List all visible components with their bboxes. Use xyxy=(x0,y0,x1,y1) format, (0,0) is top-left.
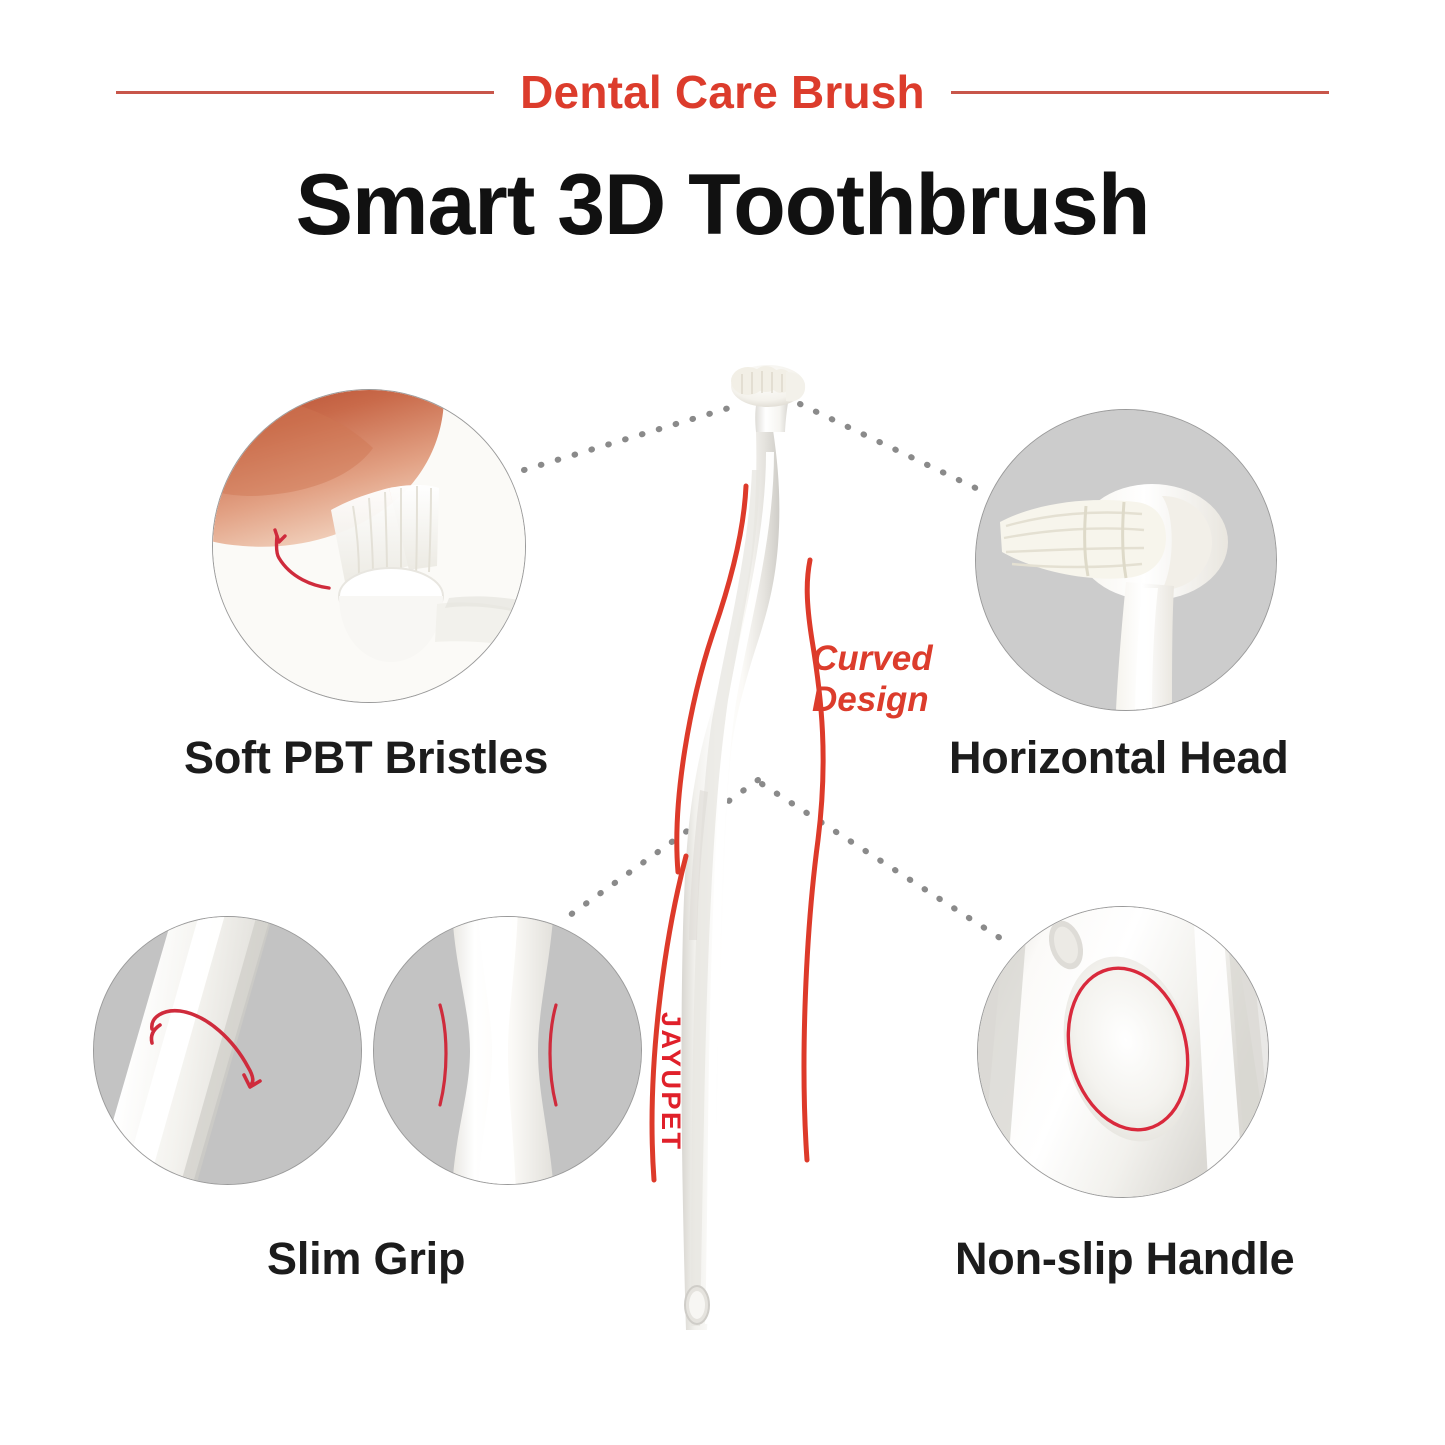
eyebrow-rule-right xyxy=(951,91,1329,94)
curved-design-callout: Curved Design xyxy=(812,638,972,721)
feature-circle-slim-grip-rotation xyxy=(93,916,362,1185)
connector-line-soft-pbt xyxy=(524,404,742,470)
handle-shadow-stripe xyxy=(691,470,760,1326)
feature-circle-horizontal-head xyxy=(975,409,1277,711)
feature-label-horizontal-head: Horizontal Head xyxy=(949,735,1289,780)
curve-accent-left xyxy=(677,486,746,872)
toothbrush-illustration xyxy=(682,365,806,1330)
toothbrush-neck xyxy=(755,392,790,432)
toothbrush-head xyxy=(731,365,805,407)
eyebrow-rule-left xyxy=(116,91,494,94)
toothbrush-handle xyxy=(682,430,780,1330)
connector-line-non-slip-handle xyxy=(762,784,1000,938)
infographic-canvas: Dental Care Brush Smart 3D Toothbrush xyxy=(0,0,1445,1445)
feature-label-soft-pbt-bristles: Soft PBT Bristles xyxy=(184,735,548,780)
feature-label-non-slip-handle: Non-slip Handle xyxy=(955,1236,1295,1281)
eyebrow-text: Dental Care Brush xyxy=(520,69,925,115)
feature-circle-slim-grip-waist xyxy=(373,916,642,1185)
connector-line-horizontal-head xyxy=(800,404,984,492)
connector-line-slim-grip xyxy=(566,780,758,918)
curved-design-line1: Curved xyxy=(812,638,972,679)
feature-label-slim-grip: Slim Grip xyxy=(267,1236,465,1281)
feature-circle-non-slip-handle xyxy=(977,906,1269,1198)
handle-hang-hole xyxy=(685,1286,709,1324)
bristle-tufts xyxy=(731,366,792,395)
bristle-lines xyxy=(742,371,782,394)
handle-hang-hole-inner xyxy=(689,1291,705,1319)
feature-circle-soft-pbt-bristles xyxy=(212,389,526,703)
handle-waist-shade xyxy=(689,790,708,940)
brand-on-handle: JAYUPET xyxy=(657,1012,684,1152)
curved-design-line2: Design xyxy=(812,679,972,720)
eyebrow-banner: Dental Care Brush xyxy=(0,62,1445,122)
handle-highlight xyxy=(705,452,774,1324)
head-back-lobe xyxy=(786,372,805,401)
page-title: Smart 3D Toothbrush xyxy=(0,160,1445,250)
